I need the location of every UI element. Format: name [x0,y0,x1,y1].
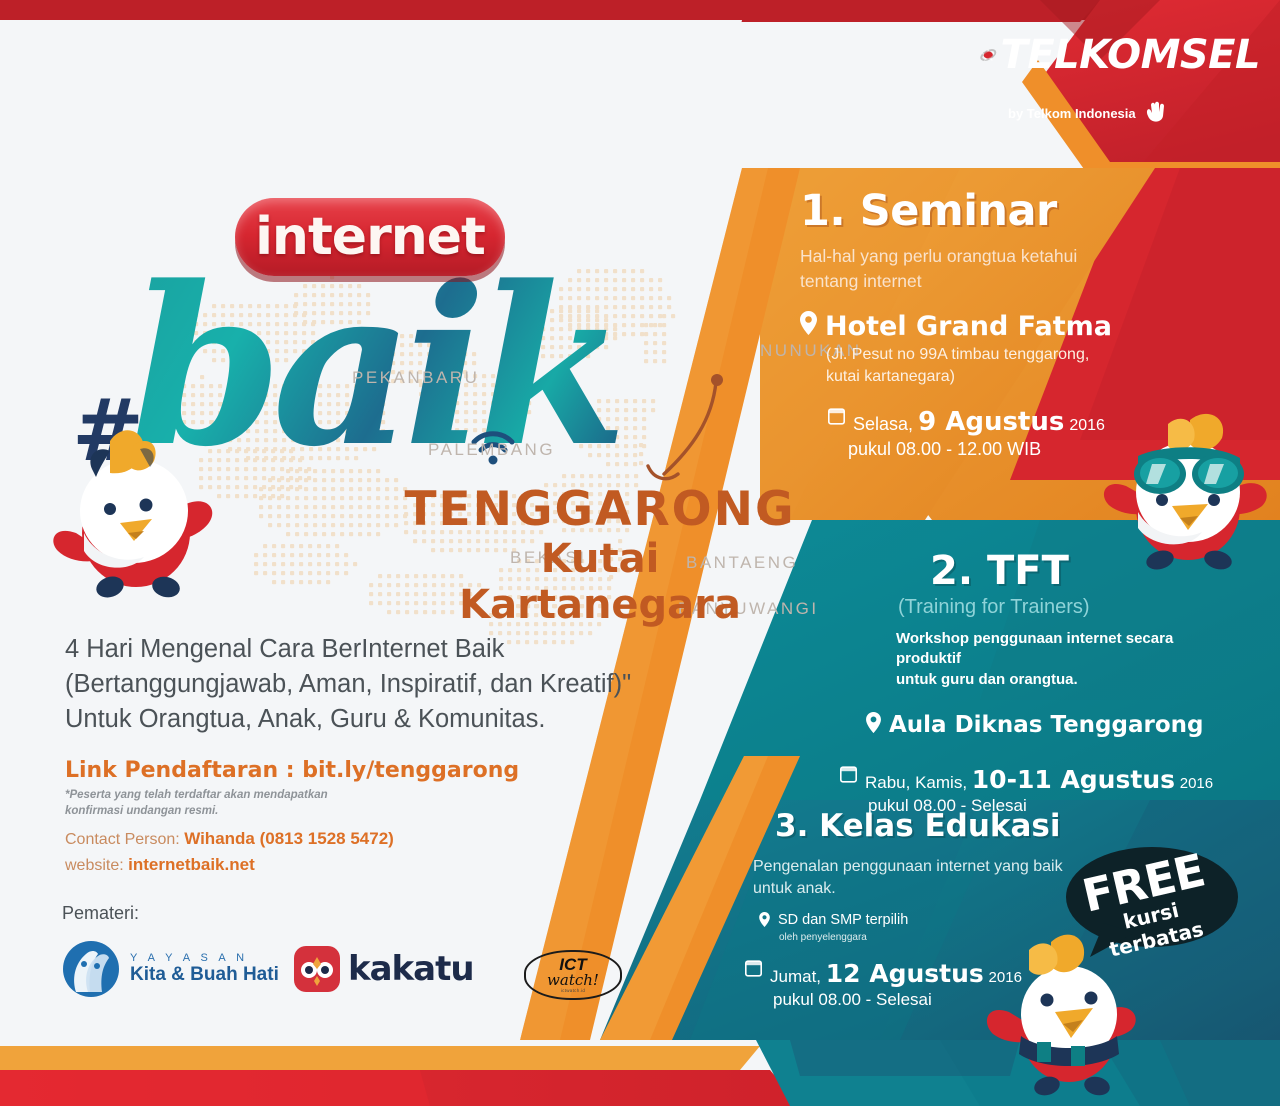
seminar-venue: Hotel Grand Fatma [825,311,1112,342]
tft-day: Rabu, Kamis, [865,773,967,792]
tft-date-row: Rabu, Kamis, 10-11 Agustus 2016 [840,765,1230,794]
speaker-logos: Y A Y A S A N Kita & Buah Hati kakatu [58,936,658,1008]
kelas-number: 3. [775,808,808,844]
website-label: website: [65,857,124,874]
regency-name: Kutai Kartanegara [400,536,800,628]
seminar-day: Selasa, [853,414,913,434]
internet-pill-badge: internet [235,198,505,276]
seminar-number: 1. [800,186,845,236]
description-line-1: 4 Hari Mengenal Cara BerInternet Baik [65,632,725,667]
contact-person-row: Contact Person: Wihanda (0813 1528 5472) [65,826,394,852]
yayasan-top-text: Y A Y A S A N [130,953,279,965]
seminar-title: Seminar [860,186,1057,236]
ict-watch-oval: ICT watch! ictwatch.id [524,950,622,1000]
calendar-icon [828,407,845,430]
map-label: PEKANBARU [352,368,479,388]
kelas-title: Kelas Edukasi [819,808,1060,844]
tft-title: TFT [987,548,1069,594]
seminar-date: 9 Agustus [918,407,1064,437]
map-label: PALEMBANG [428,440,555,460]
internet-baik-logo: # baik internet [60,140,700,450]
calendar-icon [840,765,857,788]
kakatu-wordmark: kakatu [348,949,474,989]
kelas-venue: SD dan SMP terpilih [778,912,908,928]
description-line-3: Untuk Orangtua, Anak, Guru & Komunitas. [65,702,725,737]
website-value[interactable]: internetbaik.net [128,855,255,874]
tft-workshop-text: Workshop penggunaan internet secara prod… [896,629,1230,690]
kelas-title-row: 3. Kelas Edukasi [775,808,1145,844]
tft-date: 10-11 Agustus [972,765,1175,794]
kelas-day: Jumat, [770,967,821,986]
contact-person-label: Contact Person: [65,831,180,848]
yayasan-mark-icon [62,940,120,998]
seminar-address: (Jl. Pesut no 99A timbau tenggarong, kut… [826,344,1200,387]
internet-pill-label: internet [255,207,485,267]
mascot-bird-left [48,415,248,625]
location-pin-icon [800,311,817,342]
seminar-subtitle-line-1: Hal-hal yang perlu orangtua ketahui [800,244,1200,269]
mascot-bird-sunglasses [1098,400,1278,585]
tft-workshop-line-2: untuk guru dan orangtua. [896,670,1230,690]
watch-text: watch! [547,973,599,988]
location-pin-icon [866,712,881,739]
logo-kakatu: kakatu [294,946,474,992]
tft-year: 2016 [1180,775,1213,792]
contact-person-value: Wihanda (0813 1528 5472) [184,829,394,848]
contact-block: Contact Person: Wihanda (0813 1528 5472)… [65,826,394,878]
registration-note: *Peserta yang telah terdaftar akan menda… [65,788,395,819]
telkom-indonesia-tagline: by Telkom Indonesia [1008,106,1136,121]
tft-number: 2. [930,548,973,594]
website-row: website: internetbaik.net [65,852,394,878]
event-description: 4 Hari Mengenal Cara BerInternet Baik (B… [65,632,725,738]
city-name: TENGGARONG [400,485,800,534]
kelas-date: 12 Agustus [826,959,984,988]
registration-note-line-1: *Peserta yang telah terdaftar akan menda… [65,788,395,804]
kakatu-mark-icon [294,946,340,992]
seminar-address-line-2: kutai kartanegara) [826,366,1200,388]
mascot-bird-scarf [985,920,1155,1105]
location-pin-icon [759,912,770,931]
description-line-2: (Bertanggungjawab, Aman, Inspiratif, dan… [65,667,725,702]
calendar-icon [745,959,762,982]
tft-venue-row: Aula Diknas Tenggarong [866,712,1230,739]
logo-yayasan-kita-buah-hati: Y A Y A S A N Kita & Buah Hati [62,940,279,998]
ictwatch-url: ictwatch.id [561,988,585,993]
seminar-venue-row: Hotel Grand Fatma [800,311,1200,342]
tft-paren-subtitle: (Training for Trainers) [898,596,1230,619]
registration-note-line-2: konfirmasi undangan resmi. [65,804,395,820]
seminar-subtitle: Hal-hal yang perlu orangtua ketahui tent… [800,244,1200,293]
tft-workshop-line-1: Workshop penggunaan internet secara prod… [896,629,1230,670]
telkom-indonesia-hand-icon [1142,100,1170,126]
registration-link[interactable]: Link Pendaftaran : bit.ly/tenggarong [65,758,519,783]
speakers-heading: Pemateri: [62,903,139,924]
seminar-title-row: 1. Seminar [800,186,1200,236]
telkomsel-logo: TELKOMSEL by Telkom Indonesia [980,20,1260,130]
logo-ict-watch: ICT watch! ictwatch.id [524,950,622,1000]
city-heading-block: TENGGARONG Kutai Kartanegara [400,485,800,628]
poster-canvas: # baik internet PEKANBARU PALEMBANG NUNU… [0,0,1280,1106]
agenda-item-tft: 2. TFT (Training for Trainers) Workshop … [840,548,1230,816]
tft-venue: Aula Diknas Tenggarong [889,712,1204,738]
seminar-subtitle-line-2: tentang internet [800,269,1200,294]
yayasan-main-text: Kita & Buah Hati [130,965,279,986]
seminar-address-line-1: (Jl. Pesut no 99A timbau tenggarong, [826,344,1200,366]
telkomsel-mark-icon [980,20,997,90]
telkomsel-wordmark: TELKOMSEL [1001,32,1260,78]
